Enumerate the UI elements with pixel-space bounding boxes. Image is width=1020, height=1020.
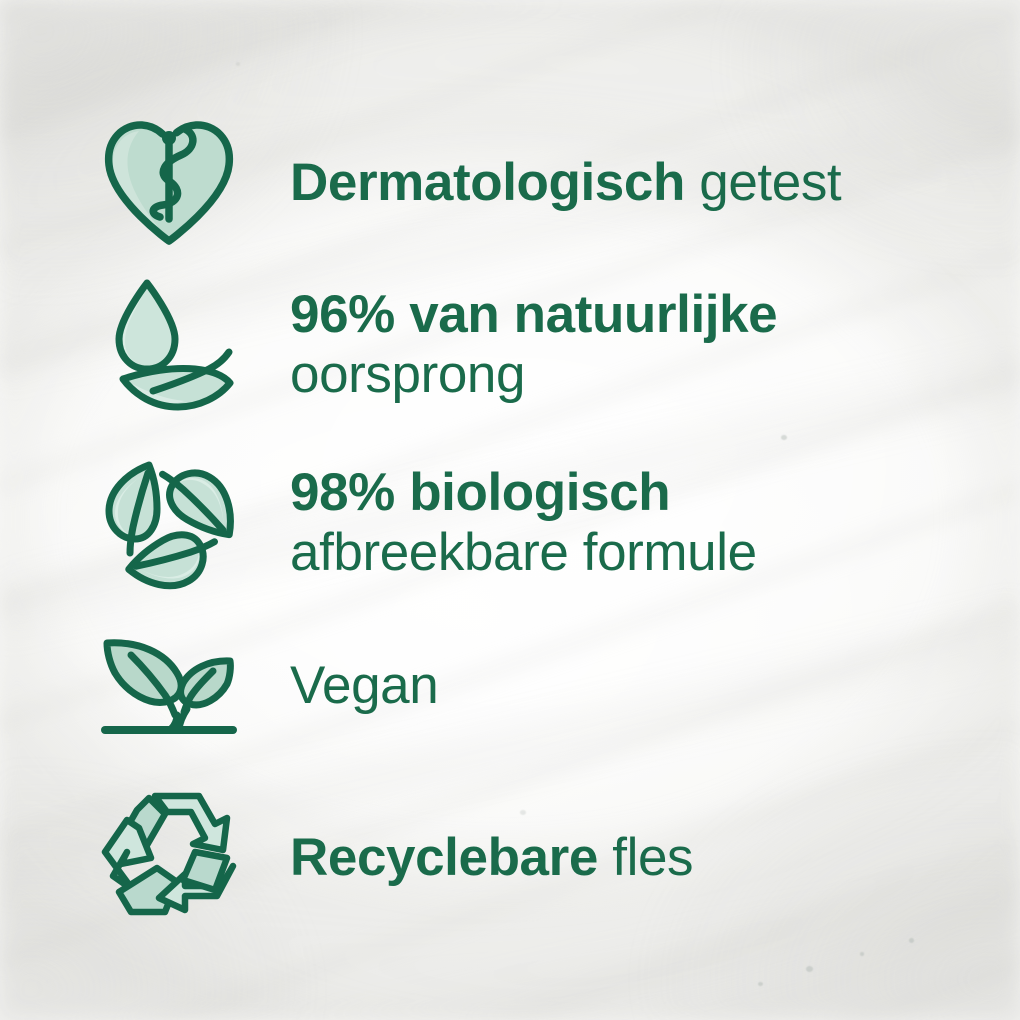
claim-line: afbreekbare formule: [290, 523, 757, 582]
claim-label: Dermatologisch getest: [290, 153, 841, 212]
claim-label: 98% biologisch afbreekbare formule: [290, 463, 757, 582]
claim-item-vegan: Vegan: [96, 616, 438, 756]
claim-text-part: Recyclebare: [290, 828, 598, 887]
claim-label: 96% van natuurlijke oorsprong: [290, 285, 777, 404]
claim-text-part: fles: [598, 828, 693, 887]
biodegradable-leaves-icon: [96, 450, 242, 596]
claim-line: 98% biologisch: [290, 463, 757, 522]
claim-line: Recyclebare fles: [290, 828, 693, 887]
claim-item-biodegradable: 98% biologisch afbreekbare formule: [96, 440, 757, 605]
heart-caduceus-icon: [96, 110, 242, 256]
claim-item-dermatologically-tested: Dermatologisch getest: [96, 108, 841, 258]
product-claims-panel: Dermatologisch getest: [0, 0, 1020, 1020]
recycle-icon: [96, 785, 242, 931]
claim-text-part: getest: [685, 153, 841, 212]
claim-text-part: Dermatologisch: [290, 153, 685, 212]
claim-line: 96% van natuurlijke: [290, 285, 777, 344]
claim-label: Vegan: [290, 656, 438, 715]
claim-line: Dermatologisch getest: [290, 153, 841, 212]
claims-list: Dermatologisch getest: [0, 0, 1020, 1020]
claim-item-natural-origin: 96% van natuurlijke oorsprong: [96, 262, 777, 427]
claim-item-recyclable-bottle: Recyclebare fles: [96, 778, 693, 938]
droplet-leaf-icon: [96, 272, 242, 418]
claim-line: Vegan: [290, 656, 438, 715]
claim-line: oorsprong: [290, 345, 777, 404]
claim-label: Recyclebare fles: [290, 828, 693, 887]
sprout-icon: [96, 613, 242, 759]
